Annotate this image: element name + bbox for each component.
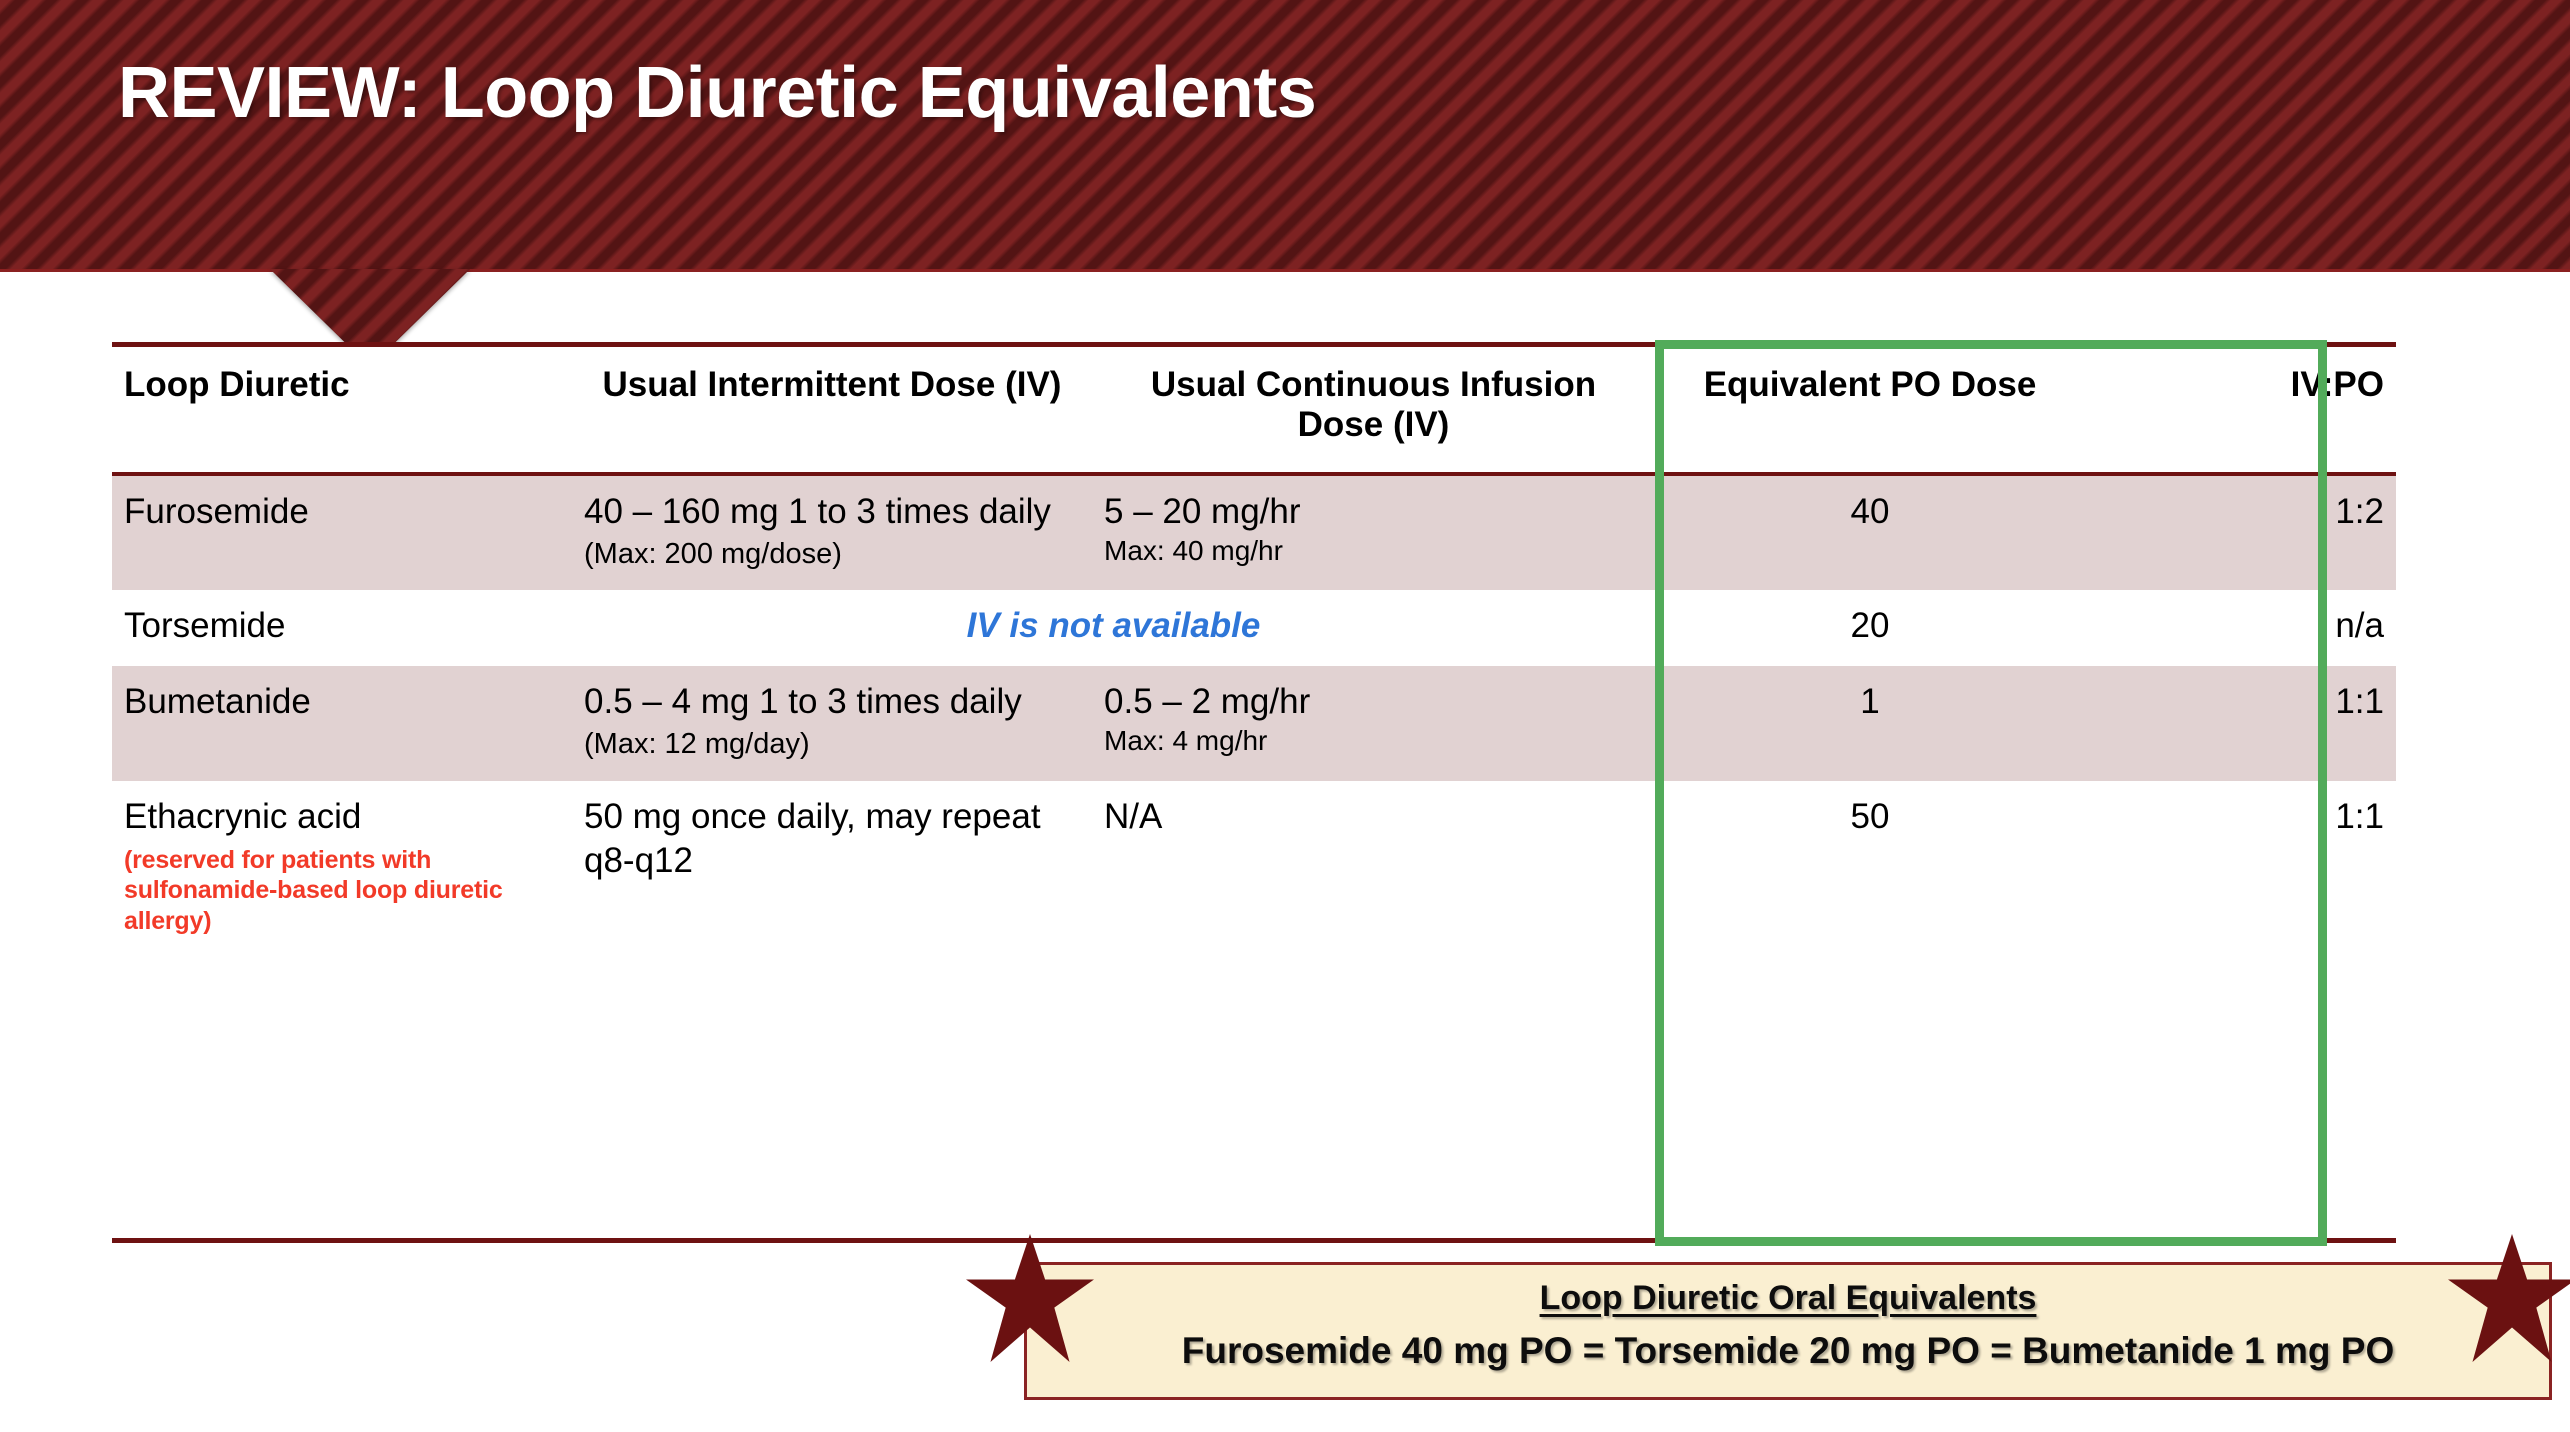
table-row: Furosemide 40 – 160 mg 1 to 3 times dail…: [112, 474, 2396, 591]
drug-label: Bumetanide: [124, 682, 311, 721]
cell-infusion-dose: 5 – 20 mg/hr Max: 40 mg/hr: [1092, 474, 1655, 591]
cell-drug-name: Ethacrynic acid (reserved for patients w…: [112, 781, 572, 955]
column-header-intermittent: Usual Intermittent Dose (IV): [572, 345, 1092, 474]
dose-main: 0.5 – 4 mg 1 to 3 times daily: [584, 682, 1022, 721]
cell-po-dose: 1: [1655, 666, 2085, 781]
cell-infusion-dose: N/A: [1092, 781, 1655, 955]
cell-iv-po-ratio: 1:1: [2085, 666, 2396, 781]
cell-po-dose: 20: [1655, 590, 2085, 666]
cell-iv-po-ratio: n/a: [2085, 590, 2396, 666]
cell-iv-po-ratio: 1:1: [2085, 781, 2396, 955]
table-row: Torsemide IV is not available 20 n/a: [112, 590, 2396, 666]
dose-main: 50 mg once daily, may repeat q8-q12: [584, 797, 1041, 880]
infusion-max: Max: 4 mg/hr: [1104, 724, 1643, 758]
cell-infusion-dose: 0.5 – 2 mg/hr Max: 4 mg/hr: [1092, 666, 1655, 781]
drug-label: Furosemide: [124, 492, 309, 531]
dose-max: (Max: 200 mg/dose): [584, 536, 1080, 573]
cell-intermittent-dose: 40 – 160 mg 1 to 3 times daily (Max: 200…: [572, 474, 1092, 591]
drug-label: Torsemide: [124, 606, 285, 645]
page-title: REVIEW: Loop Diuretic Equivalents: [118, 52, 1316, 134]
table-header-row: Loop Diuretic Usual Intermittent Dose (I…: [112, 345, 2396, 474]
callout-equation: Furosemide 40 mg PO = Torsemide 20 mg PO…: [1027, 1330, 2549, 1372]
cell-iv-unavailable-note: IV is not available: [572, 590, 1655, 666]
column-header-infusion: Usual Continuous Infusion Dose (IV): [1092, 345, 1655, 474]
cell-intermittent-dose: 50 mg once daily, may repeat q8-q12: [572, 781, 1092, 955]
table-row: Bumetanide 0.5 – 4 mg 1 to 3 times daily…: [112, 666, 2396, 781]
infusion-main: 5 – 20 mg/hr: [1104, 492, 1301, 531]
cell-po-dose: 40: [1655, 474, 2085, 591]
cell-drug-name: Furosemide: [112, 474, 572, 591]
infusion-main: N/A: [1104, 797, 1162, 836]
oral-equivalents-callout: Loop Diuretic Oral Equivalents Furosemid…: [1024, 1262, 2552, 1400]
infusion-main: 0.5 – 2 mg/hr: [1104, 682, 1310, 721]
callout-title: Loop Diuretic Oral Equivalents: [1027, 1279, 2549, 1318]
column-header-iv-po-ratio: IV:PO: [2085, 345, 2396, 474]
dose-main: 40 – 160 mg 1 to 3 times daily: [584, 492, 1051, 531]
cell-po-dose: 50: [1655, 781, 2085, 955]
cell-iv-po-ratio: 1:2: [2085, 474, 2396, 591]
drug-allergy-note: (reserved for patients with sulfonamide-…: [124, 845, 560, 937]
cell-drug-name: Torsemide: [112, 590, 572, 666]
table-bottom-rule: [112, 1238, 2396, 1243]
infusion-max: Max: 40 mg/hr: [1104, 534, 1643, 568]
dose-max: (Max: 12 mg/day): [584, 726, 1080, 763]
loop-diuretic-dose-table: Loop Diuretic Usual Intermittent Dose (I…: [112, 342, 2396, 954]
drug-label: Ethacrynic acid: [124, 797, 361, 836]
cell-intermittent-dose: 0.5 – 4 mg 1 to 3 times daily (Max: 12 m…: [572, 666, 1092, 781]
iv-not-available-label: IV is not available: [584, 604, 1643, 648]
column-header-drug: Loop Diuretic: [112, 345, 572, 474]
slide-header-banner: REVIEW: Loop Diuretic Equivalents: [0, 0, 2570, 272]
table-row: Ethacrynic acid (reserved for patients w…: [112, 781, 2396, 955]
column-header-po-dose: Equivalent PO Dose: [1655, 345, 2085, 474]
cell-drug-name: Bumetanide: [112, 666, 572, 781]
